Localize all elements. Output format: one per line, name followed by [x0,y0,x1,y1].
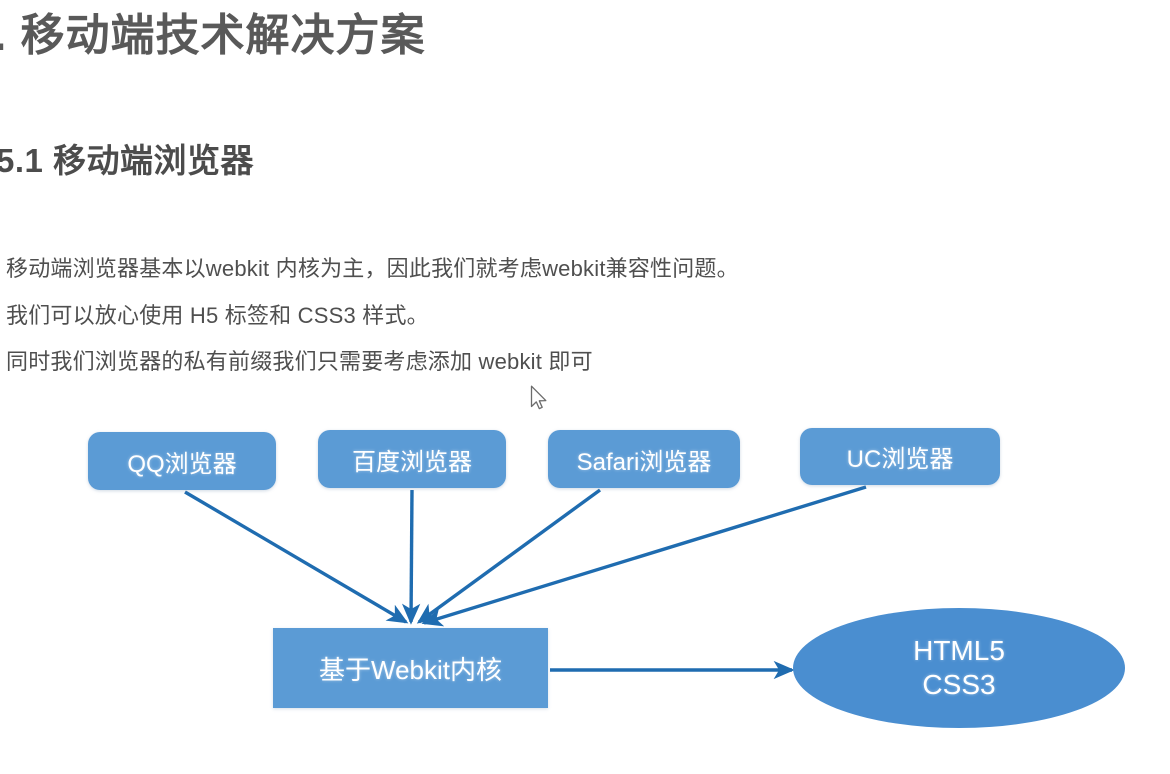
diagram-node-label-line-1: HTML5 [913,634,1005,668]
diagram-node-baidu-browser[interactable]: 百度浏览器 [318,430,506,488]
diagram-node-label-line-2: CSS3 [922,668,995,702]
diagram-node-label: Safari浏览器 [577,442,712,477]
diagram-node-label: 百度浏览器 [352,442,472,477]
connector-qq-to-webkit [185,492,406,622]
diagram-node-label: UC浏览器 [847,439,954,474]
connector-baidu-to-webkit [411,490,412,622]
browser-kernel-diagram: QQ浏览器 百度浏览器 Safari浏览器 UC浏览器 基于Webkit内核 H… [0,0,1170,774]
connector-uc-to-webkit [424,487,866,623]
diagram-node-html5-css3[interactable]: HTML5 CSS3 [793,608,1125,728]
diagram-node-label: 基于Webkit内核 [319,650,502,687]
diagram-node-label: QQ浏览器 [127,444,236,479]
mouse-cursor-icon [530,385,550,413]
diagram-node-uc-browser[interactable]: UC浏览器 [800,428,1000,485]
diagram-node-qq-browser[interactable]: QQ浏览器 [88,432,276,490]
diagram-node-webkit-core[interactable]: 基于Webkit内核 [273,628,548,708]
slide-page: . 移动端技术解决方案 5.1 移动端浏览器 移动端浏览器基本以webkit 内… [0,0,1170,774]
diagram-node-safari-browser[interactable]: Safari浏览器 [548,430,740,488]
connector-safari-to-webkit [419,490,600,622]
